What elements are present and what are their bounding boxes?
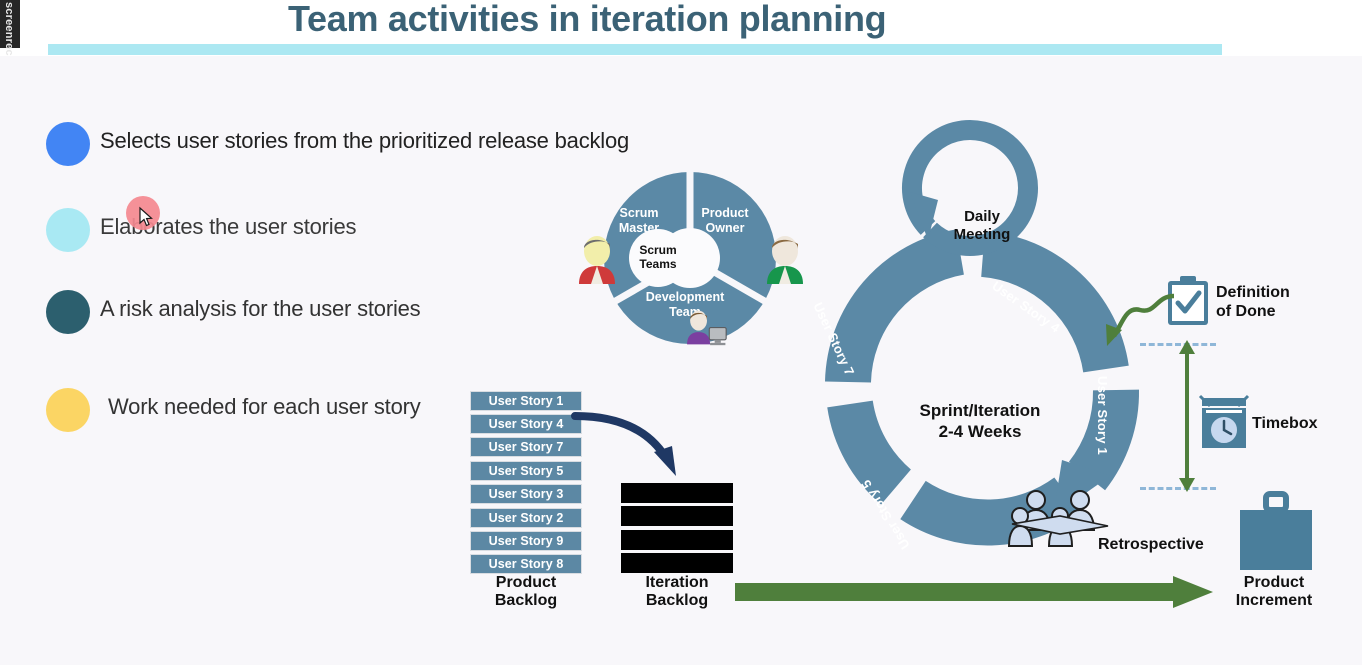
mouse-cursor-icon bbox=[139, 207, 153, 227]
product-backlog-item[interactable]: User Story 2 bbox=[470, 508, 582, 528]
retrospective-label: Retrospective bbox=[1098, 536, 1204, 554]
definition-of-done-arrow-icon bbox=[1082, 280, 1178, 352]
bullet-dot-1 bbox=[46, 208, 90, 252]
page-title: Team activities in iteration planning bbox=[288, 0, 988, 40]
watermark-label: screenrec bbox=[3, 2, 15, 56]
sprint-segment-label-user-story-1: User Story 1 bbox=[1095, 376, 1110, 455]
pie-label-scrum-master-line1: Scrum bbox=[608, 206, 670, 221]
bullet-dot-0 bbox=[46, 122, 90, 166]
product-increment-label: Product Increment bbox=[1218, 574, 1330, 611]
iteration-backlog-bar bbox=[621, 553, 733, 573]
bullet-label-2: A risk analysis for the user stories bbox=[100, 296, 420, 322]
bullet-dot-3 bbox=[46, 388, 90, 432]
daily-meeting-line2: Meeting bbox=[930, 226, 1034, 244]
timebox-span-arrow-icon bbox=[1176, 338, 1198, 494]
sprint-center-line1: Sprint/Iteration bbox=[880, 400, 1080, 421]
timebox-icon bbox=[1196, 392, 1252, 454]
product-backlog-item[interactable]: User Story 9 bbox=[470, 531, 582, 551]
pie-label-product-owner-line1: Product bbox=[694, 206, 756, 221]
sprint-center-label: Sprint/Iteration 2-4 Weeks bbox=[880, 400, 1080, 443]
product-backlog-item[interactable]: User Story 5 bbox=[470, 461, 582, 481]
sprint-center-line2: 2-4 Weeks bbox=[880, 421, 1080, 442]
daily-meeting-line1: Daily bbox=[930, 208, 1034, 226]
bullet-dot-2 bbox=[46, 290, 90, 334]
product-increment-arrow-icon bbox=[735, 576, 1215, 610]
slide-canvas: Team activities in iteration planning sc… bbox=[0, 0, 1362, 665]
scrum-teams-diagram: Scrum Master Product Owner Development T… bbox=[572, 172, 808, 354]
product-backlog-caption-line2: Backlog bbox=[470, 592, 582, 610]
backlog-transfer-arrow-icon bbox=[572, 406, 692, 486]
iteration-backlog-bar bbox=[621, 483, 733, 503]
pie-hub-line2: Teams bbox=[639, 258, 676, 272]
person-icon-development-team bbox=[684, 300, 730, 352]
product-backlog-item[interactable]: User Story 3 bbox=[470, 484, 582, 504]
product-backlog-item[interactable]: User Story 1 bbox=[470, 391, 582, 411]
pie-hub-scrum-teams: Scrum Teams bbox=[629, 229, 687, 287]
bullet-label-0: Selects user stories from the prioritize… bbox=[100, 128, 629, 154]
iteration-backlog-caption-line2: Backlog bbox=[613, 592, 741, 610]
bullet-label-3: Work needed for each user story bbox=[108, 394, 421, 420]
retrospective-people-icon bbox=[1008, 488, 1112, 550]
definition-of-done-line2: of Done bbox=[1216, 303, 1336, 322]
definition-of-done-label: Definition of Done bbox=[1216, 284, 1336, 322]
product-backlog-item[interactable]: User Story 4 bbox=[470, 414, 582, 434]
title-underline-rule bbox=[48, 44, 1222, 55]
iteration-backlog-bar bbox=[621, 506, 733, 526]
briefcase-icon bbox=[1238, 492, 1314, 572]
screenrec-watermark: screenrec bbox=[0, 0, 20, 48]
product-increment-line1: Product bbox=[1218, 574, 1330, 592]
product-increment-line2: Increment bbox=[1218, 592, 1330, 610]
timebox-label: Timebox bbox=[1252, 415, 1318, 433]
daily-meeting-label: Daily Meeting bbox=[930, 208, 1034, 244]
iteration-backlog-caption: Iteration Backlog bbox=[613, 574, 741, 611]
product-backlog-caption: Product Backlog bbox=[470, 574, 582, 611]
product-backlog-item[interactable]: User Story 7 bbox=[470, 437, 582, 457]
person-icon-scrum-master bbox=[574, 234, 620, 286]
product-backlog-item[interactable]: User Story 8 bbox=[470, 554, 582, 574]
definition-of-done-line1: Definition bbox=[1216, 284, 1336, 303]
iteration-backlog-bar bbox=[621, 530, 733, 550]
pie-label-product-owner-line2: Owner bbox=[694, 221, 756, 236]
person-icon-product-owner bbox=[762, 234, 808, 286]
pie-hub-line1: Scrum bbox=[639, 244, 676, 258]
pie-label-product-owner: Product Owner bbox=[694, 206, 756, 236]
product-backlog-caption-line1: Product bbox=[470, 574, 582, 592]
iteration-backlog-caption-line1: Iteration bbox=[613, 574, 741, 592]
